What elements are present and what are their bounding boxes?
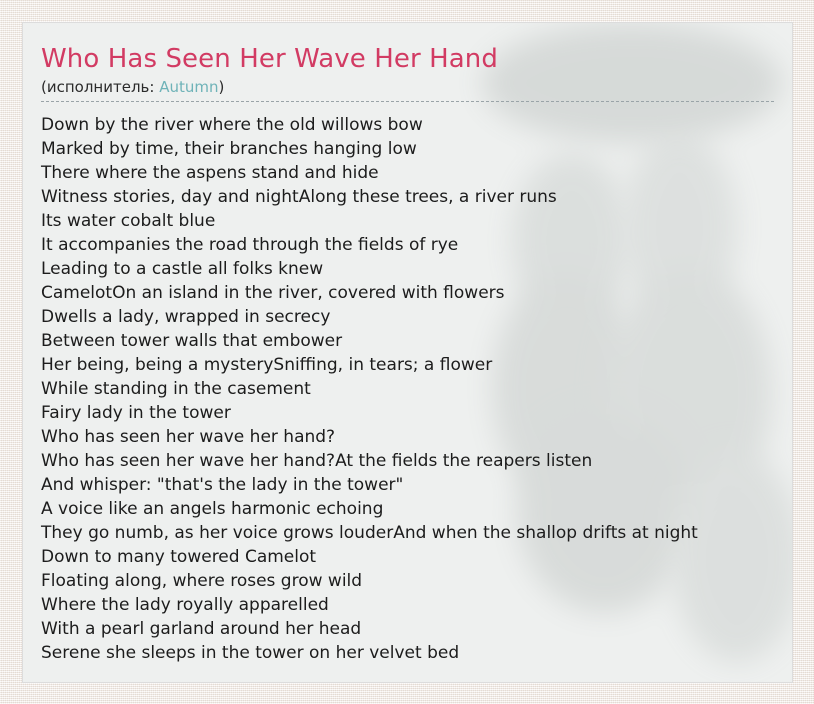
- lyric-line: Floating along, where roses grow wild: [41, 569, 774, 593]
- lyric-line: Fairy lady in the tower: [41, 401, 774, 425]
- lyric-line: Between tower walls that embower: [41, 329, 774, 353]
- lyric-line: Who has seen her wave her hand?At the fi…: [41, 449, 774, 473]
- artist-link[interactable]: Autumn: [159, 78, 218, 96]
- artist-attribution: (исполнитель: Autumn): [41, 77, 774, 102]
- lyric-line: A voice like an angels harmonic echoing: [41, 497, 774, 521]
- lyric-line: Down to many towered Camelot: [41, 545, 774, 569]
- lyric-line: Marked by time, their branches hanging l…: [41, 137, 774, 161]
- lyric-line: Its water cobalt blue: [41, 209, 774, 233]
- lyric-line: While standing in the casement: [41, 377, 774, 401]
- lyrics-content-panel: Who Has Seen Her Wave Her Hand (исполнит…: [22, 22, 793, 683]
- lyric-line: It accompanies the road through the fiel…: [41, 233, 774, 257]
- lyric-line: Serene she sleeps in the tower on her ve…: [41, 641, 774, 665]
- lyric-line: Witness stories, day and nightAlong thes…: [41, 185, 774, 209]
- artist-prefix-label: (исполнитель:: [41, 78, 159, 96]
- lyric-line: There where the aspens stand and hide: [41, 161, 774, 185]
- lyric-line: Dwells a lady, wrapped in secrecy: [41, 305, 774, 329]
- lyric-line: With a pearl garland around her head: [41, 617, 774, 641]
- lyrics-body: Down by the river where the old willows …: [41, 113, 774, 665]
- lyric-line: Leading to a castle all folks knew: [41, 257, 774, 281]
- lyric-line: Who has seen her wave her hand?: [41, 425, 774, 449]
- lyric-line: They go numb, as her voice grows louderA…: [41, 521, 774, 545]
- lyric-line: CamelotOn an island in the river, covere…: [41, 281, 774, 305]
- artist-suffix-label: ): [218, 78, 224, 96]
- lyric-line: Her being, being a mysterySniffing, in t…: [41, 353, 774, 377]
- lyric-line: Where the lady royally apparelled: [41, 593, 774, 617]
- lyric-line: Down by the river where the old willows …: [41, 113, 774, 137]
- page-title: Who Has Seen Her Wave Her Hand: [41, 43, 774, 75]
- lyric-line: And whisper: "that's the lady in the tow…: [41, 473, 774, 497]
